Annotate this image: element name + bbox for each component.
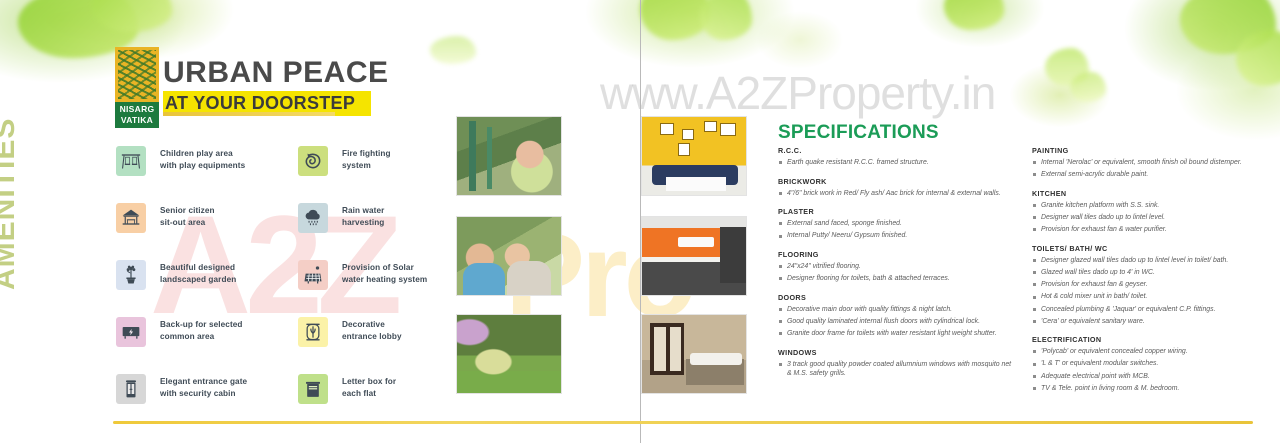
modular-kitchen-photo [641,216,747,296]
logo-mark-icon [115,47,159,102]
amenities-section-title: AMENITIES [0,90,22,290]
amenity-label-line1: Elegant entrance gate [160,376,247,388]
logo-name: NISARG VATIKA [115,102,159,128]
spec-group: BRICKWORK4"/6" brick work in Red/ Fly as… [778,177,1016,199]
brand-block: URBAN PEACE AT YOUR DOORSTEP [163,57,389,116]
watermark-url: www.A2ZProperty.in [600,66,995,120]
amenity-item: Fire fightingsystem [298,144,427,201]
amenity-label-line1: Decorative [342,319,402,331]
spec-list-item: 'Cera' or equivalent sanitary ware. [1032,317,1272,327]
amenity-label-line2: harvesting [342,217,384,229]
amenity-label-line1: Rain water [342,205,384,217]
amenity-item-label: Letter box foreach flat [342,372,396,399]
swing-icon [116,146,146,176]
spec-group-heading: PLASTER [778,207,1016,216]
spec-list-item: Decorative main door with quality fittin… [778,305,1016,315]
gazebo-icon [116,203,146,233]
logo-name-top: NISARG [115,104,159,115]
amenity-label-line2: landscaped garden [160,274,236,286]
logo-name-bottom: VATIKA [115,115,159,126]
spec-group-heading: KITCHEN [1032,189,1272,198]
spec-group: WINDOWS3 track good quality powder coate… [778,348,1016,379]
spec-list-item: 'Polycab' or equivalent concealed copper… [1032,347,1272,357]
spec-group: PAINTINGInternal 'Nerolac' or equivalent… [1032,146,1272,180]
spec-list-item: External semi-acrylic durable paint. [1032,170,1272,180]
amenity-item-label: Senior citizensit-out area [160,201,215,228]
spec-list-item: Internal Putty/ Neeru/ Gypsum finished. [778,231,1016,241]
spec-list-item: Glazed wall tiles dado up to 4' in WC. [1032,268,1272,278]
amenity-item-label: Provision of Solarwater heating system [342,258,427,285]
spec-list-item: 'L & T' or equivalent modular switches. [1032,359,1272,369]
leaf-decoration [1070,72,1106,102]
solar-panel-icon [298,260,328,290]
fire-hose-icon [298,146,328,176]
spec-group: PLASTERExternal sand faced, sponge finis… [778,207,1016,241]
amenity-item: Decorativeentrance lobby [298,315,427,372]
spec-group-heading: FLOORING [778,250,1016,259]
landscaped-garden-photo [456,314,562,394]
spec-list-item: Good quality laminated internal flush do… [778,317,1016,327]
spec-group: TOILETS/ BATH/ WCDesigner glazed wall ti… [1032,244,1272,327]
amenity-item-label: Beautiful designedlandscaped garden [160,258,236,285]
senior-couple-garden-photo [456,216,562,296]
amenity-item: Senior citizensit-out area [116,201,247,258]
amenity-label-line2: water heating system [342,274,427,286]
amenity-label-line1: Back-up for selected [160,319,243,331]
amenity-item: Back-up for selectedcommon area [116,315,247,372]
spec-group-heading: DOORS [778,293,1016,302]
amenity-label-line1: Letter box for [342,376,396,388]
spec-list-item: Granite kitchen platform with S.S. sink. [1032,201,1272,211]
brochure-page: A2Z Pro www.A2ZProperty.in AMENITIES NIS… [0,0,1280,443]
spec-list-item: Provision for exhaust fan & geyser. [1032,280,1272,290]
amenity-item: Beautiful designedlandscaped garden [116,258,247,315]
spec-group-heading: WINDOWS [778,348,1016,357]
leaf-decoration [944,0,1004,30]
spec-list-item: TV & Tele. point in living room & M. bed… [1032,384,1272,394]
entrance-gate-icon [116,374,146,404]
brand-title: URBAN PEACE [163,57,389,89]
amenity-label-line1: Beautiful designed [160,262,236,274]
spec-group: FLOORING24"x24" vitrified flooring.Desig… [778,250,1016,284]
amenity-item: Children play areawith play equipments [116,144,247,201]
nisarg-vatika-logo: NISARG VATIKA [115,47,159,128]
bedroom-photo [641,314,747,394]
amenity-label-line2: common area [160,331,243,343]
spec-list-item: 4"/6" brick work in Red/ Fly ash/ Aac br… [778,189,1016,199]
amenity-item-label: Back-up for selectedcommon area [160,315,243,342]
spec-list-item: 3 track good quality powder coated allum… [778,360,1016,379]
specifications-column-right: PAINTINGInternal 'Nerolac' or equivalent… [1032,146,1272,402]
spec-list-item: 24"x24" vitrified flooring. [778,262,1016,272]
amenity-label-line1: Children play area [160,148,245,160]
amenity-label-line2: sit-out area [160,217,215,229]
specifications-column-left: R.C.C.Earth quake resistant R.C.C. frame… [778,146,1016,388]
spec-group: R.C.C.Earth quake resistant R.C.C. frame… [778,146,1016,168]
amenity-column-left: Children play areawith play equipmentsSe… [116,144,247,429]
leaf-decoration [430,36,476,64]
spec-list-item: Concealed plumbing & 'Jaquar' or equival… [1032,305,1272,315]
lobby-door-icon [298,317,328,347]
spec-list-item: Designer wall tiles dado up to lintel le… [1032,213,1272,223]
amenity-item: Rain waterharvesting [298,201,427,258]
amenity-item-label: Elegant entrance gatewith security cabin [160,372,247,399]
spec-list-item: Provision for exhaust fan & water purifi… [1032,225,1272,235]
amenity-label-line1: Provision of Solar [342,262,427,274]
spec-list-item: External sand faced, sponge finished. [778,219,1016,229]
power-backup-icon [116,317,146,347]
spec-group: KITCHENGranite kitchen platform with S.S… [1032,189,1272,235]
spec-group-heading: BRICKWORK [778,177,1016,186]
spec-group-heading: ELECTRIFICATION [1032,335,1272,344]
amenity-column-right: Fire fightingsystemRain waterharvestingP… [298,144,427,429]
spec-group-heading: PAINTING [1032,146,1272,155]
leaf-decoration [700,0,752,40]
amenity-item: Elegant entrance gatewith security cabin [116,372,247,429]
amenity-label-line2: with play equipments [160,160,245,172]
spec-list-item: Adequate electrical point with MCB. [1032,372,1272,382]
spec-group-heading: R.C.C. [778,146,1016,155]
brand-underline [163,112,335,116]
spec-list-item: Internal 'Nerolac' or equivalent, smooth… [1032,158,1272,168]
amenity-label-line2: system [342,160,391,172]
amenity-item-label: Rain waterharvesting [342,201,384,228]
bottom-rule [113,421,1253,424]
amenity-item-label: Decorativeentrance lobby [342,315,402,342]
spec-list-item: Hot & cold mixer unit in bath/ toilet. [1032,292,1272,302]
spec-group-heading: TOILETS/ BATH/ WC [1032,244,1272,253]
amenity-item-label: Fire fightingsystem [342,144,391,171]
spec-group: ELECTRIFICATION'Polycab' or equivalent c… [1032,335,1272,393]
brand-subtitle: AT YOUR DOORSTEP [165,93,355,113]
letter-box-icon [298,374,328,404]
amenity-item: Letter box foreach flat [298,372,427,429]
spec-list-item: Granite door frame for toilets with wate… [778,329,1016,339]
living-room-photo [641,116,747,196]
spec-list-item: Earth quake resistant R.C.C. framed stru… [778,158,1016,168]
spec-list-item: Designer flooring for toilets, bath & at… [778,274,1016,284]
amenity-item: Provision of Solarwater heating system [298,258,427,315]
amenity-label-line2: with security cabin [160,388,247,400]
amenity-item-label: Children play areawith play equipments [160,144,245,171]
girl-on-swing-photo [456,116,562,196]
rain-cloud-icon [298,203,328,233]
amenity-label-line2: entrance lobby [342,331,402,343]
potted-flower-icon [116,260,146,290]
amenity-label-line1: Senior citizen [160,205,215,217]
specifications-title: SPECIFICATIONS [778,122,939,144]
spec-group: DOORSDecorative main door with quality f… [778,293,1016,339]
amenity-label-line1: Fire fighting [342,148,391,160]
amenity-label-line2: each flat [342,388,396,400]
spec-list-item: Designer glazed wall tiles dado up to li… [1032,256,1272,266]
